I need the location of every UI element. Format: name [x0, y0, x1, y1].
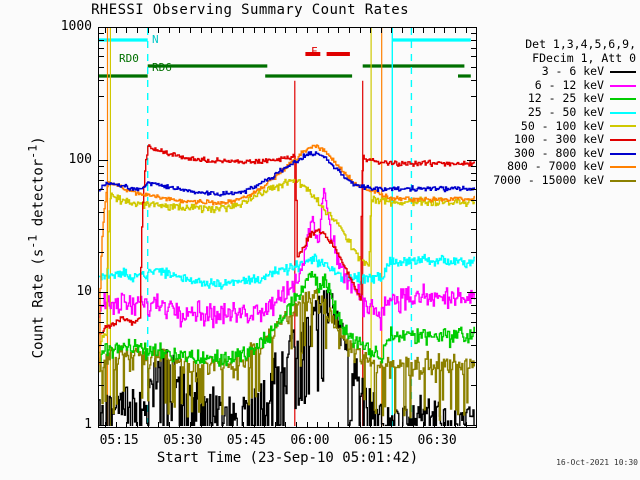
x-tickmark	[402, 28, 403, 33]
y-tickmark	[99, 362, 104, 363]
y-tick-label: 10	[46, 284, 92, 299]
y-tickmark	[471, 252, 476, 253]
legend-entry[interactable]: 6 - 12 keV	[484, 79, 636, 93]
y-tickmark	[471, 189, 476, 190]
x-tickmark	[328, 422, 329, 427]
legend-color-swatch	[610, 85, 636, 87]
y-tickmark	[471, 212, 476, 213]
x-tickmark	[370, 422, 371, 427]
x-tickmark	[190, 28, 191, 33]
x-tickmark	[105, 422, 106, 427]
y-tickmark	[99, 212, 104, 213]
y-tickmark	[99, 166, 104, 167]
x-tickmark	[137, 28, 138, 33]
y-tickmark	[99, 96, 104, 97]
y-axis-title-end: )	[30, 136, 46, 144]
plot-canvas	[99, 28, 476, 427]
x-tickmark	[296, 422, 297, 427]
x-tickmark	[413, 28, 414, 33]
x-tickmark	[148, 422, 149, 427]
legend-entry-label: 3 - 6 keV	[542, 65, 604, 79]
y-tickmark	[99, 425, 108, 426]
x-tickmark	[413, 422, 414, 427]
x-tickmark	[444, 422, 445, 427]
y-tickmark	[471, 305, 476, 306]
y-axis-title-mid: detector	[30, 159, 46, 235]
x-tickmark	[158, 422, 159, 427]
x-tickmark	[349, 422, 350, 427]
legend-entry[interactable]: 800 - 7000 keV	[484, 160, 636, 174]
y-tickmark	[471, 56, 476, 57]
y-tickmark	[471, 200, 476, 201]
legend-entry-label: 50 - 100 keV	[521, 120, 604, 134]
annotation-flare-label: F	[311, 45, 318, 58]
x-tickmark	[179, 28, 180, 33]
y-axis-title-wrap: Count Rate (s-1 detector-1)	[18, 52, 48, 402]
x-tickmark	[338, 422, 339, 427]
render-timestamp: 16-Oct-2021 10:30	[480, 458, 638, 467]
y-tickmark	[471, 332, 476, 333]
x-tickmark	[148, 28, 149, 33]
y-tickmark	[471, 48, 476, 49]
x-tickmark	[232, 422, 233, 427]
y-tickmark	[471, 180, 476, 181]
y-tickmark	[471, 362, 476, 363]
x-tickmark	[423, 422, 424, 427]
legend-entry-label: 300 - 800 keV	[514, 147, 604, 161]
y-tickmark	[99, 40, 104, 41]
y-tickmark	[471, 345, 476, 346]
y-tickmark	[471, 80, 476, 81]
x-tick-label: 05:30	[153, 433, 213, 448]
x-tickmark	[158, 28, 159, 33]
annotation-rd6-label: RD6	[152, 61, 172, 74]
y-tickmark	[99, 173, 104, 174]
x-tickmark	[169, 28, 170, 33]
y-tick-label: 100	[46, 152, 92, 167]
x-tickmark	[264, 422, 265, 427]
legend-entry[interactable]: 12 - 25 keV	[484, 92, 636, 106]
x-tickmark	[434, 422, 435, 427]
legend-entry[interactable]: 300 - 800 keV	[484, 147, 636, 161]
legend-entry[interactable]: 100 - 300 keV	[484, 133, 636, 147]
y-tickmark	[471, 173, 476, 174]
y-tickmark	[471, 385, 476, 386]
plot-svg	[99, 28, 475, 426]
y-tickmark	[99, 120, 104, 121]
legend-entry[interactable]: 7000 - 15000 keV	[484, 174, 636, 188]
y-tickmark	[467, 292, 476, 293]
y-tick-label: 1	[46, 417, 92, 432]
x-tickmark	[307, 28, 308, 33]
page-title: RHESSI Observing Summary Count Rates	[0, 2, 500, 18]
legend-entry-label: 25 - 50 keV	[528, 106, 604, 120]
legend-color-swatch	[610, 153, 636, 155]
x-tickmark	[370, 28, 371, 33]
y-tickmark	[467, 160, 476, 161]
y-tickmark	[471, 67, 476, 68]
legend-entry[interactable]: 25 - 50 keV	[484, 106, 636, 120]
plot-area[interactable]	[98, 27, 477, 428]
legend-entry-label: 7000 - 15000 keV	[493, 174, 604, 188]
y-tickmark	[99, 80, 104, 81]
y-tickmark	[99, 229, 104, 230]
y-tickmark	[99, 200, 104, 201]
x-tickmark	[360, 28, 361, 33]
x-tickmark	[434, 28, 435, 33]
x-tickmark	[423, 28, 424, 33]
y-axis-exponent-2: -1	[26, 145, 40, 159]
y-tickmark	[471, 313, 476, 314]
x-tickmark	[402, 422, 403, 427]
y-tickmark	[471, 40, 476, 41]
legend-entry[interactable]: 50 - 100 keV	[484, 120, 636, 134]
x-tickmark	[328, 28, 329, 33]
y-tickmark	[99, 189, 104, 190]
legend-entry-label: 6 - 12 keV	[535, 79, 604, 93]
x-tickmark	[126, 28, 127, 33]
x-tickmark	[360, 422, 361, 427]
legend-settings: FDecim 1, Att 0	[484, 52, 636, 66]
annotation-night-label: N	[152, 33, 159, 46]
x-tickmark	[317, 422, 318, 427]
x-tickmark	[317, 28, 318, 33]
legend-color-swatch	[610, 180, 636, 182]
y-tickmark	[99, 292, 108, 293]
y-tickmark	[99, 298, 104, 299]
x-tickmark	[285, 422, 286, 427]
x-tickmark	[179, 422, 180, 427]
x-tickmark	[116, 422, 117, 427]
x-tickmark	[201, 28, 202, 33]
x-tick-label: 06:30	[407, 433, 467, 448]
y-tickmark	[99, 322, 104, 323]
x-tickmark	[391, 422, 392, 427]
x-tickmark	[381, 422, 382, 427]
x-tickmark	[222, 28, 223, 33]
x-tickmark	[116, 28, 117, 33]
x-tickmark	[381, 28, 382, 33]
x-tick-label: 05:15	[89, 433, 149, 448]
x-tickmark	[338, 28, 339, 33]
y-tickmark	[99, 345, 104, 346]
y-tickmark	[471, 322, 476, 323]
x-tickmark	[211, 422, 212, 427]
y-tickmark	[99, 67, 104, 68]
annotation-rd0-label: RD0	[119, 52, 139, 65]
legend-entries: 3 - 6 keV6 - 12 keV12 - 25 keV25 - 50 ke…	[484, 65, 636, 187]
x-tickmark	[349, 28, 350, 33]
x-tickmark	[264, 28, 265, 33]
x-tickmark	[201, 422, 202, 427]
y-tick-label: 1000	[46, 19, 92, 34]
x-tickmark	[466, 422, 467, 427]
legend-color-swatch	[610, 112, 636, 114]
y-axis-title-text: Count Rate (s	[30, 249, 46, 359]
y-tickmark	[99, 33, 104, 34]
x-tick-label: 05:45	[216, 433, 276, 448]
x-tickmark	[391, 28, 392, 33]
legend-entry-label: 100 - 300 keV	[514, 133, 604, 147]
x-tickmark	[307, 422, 308, 427]
y-tickmark	[99, 332, 104, 333]
x-tickmark	[296, 28, 297, 33]
x-axis-title: Start Time (23-Sep-10 05:01:42)	[98, 450, 477, 466]
y-tickmark	[99, 305, 104, 306]
rhessi-plot-window: RHESSI Observing Summary Count Rates Cou…	[0, 0, 640, 480]
x-tickmark	[137, 422, 138, 427]
y-tickmark	[471, 166, 476, 167]
legend-entry-label: 12 - 25 keV	[528, 92, 604, 106]
y-tickmark	[99, 180, 104, 181]
y-axis-title: Count Rate (s-1 detector-1)	[26, 77, 47, 417]
x-tickmark	[105, 28, 106, 33]
x-tickmark	[243, 422, 244, 427]
x-tickmark	[211, 28, 212, 33]
y-tickmark	[99, 252, 104, 253]
legend-color-swatch	[610, 98, 636, 100]
y-tickmark	[471, 96, 476, 97]
x-tickmark	[254, 28, 255, 33]
legend-color-swatch	[610, 125, 636, 127]
x-tickmark	[455, 422, 456, 427]
y-tickmark	[99, 48, 104, 49]
legend-color-swatch	[610, 71, 636, 73]
x-tickmark	[169, 422, 170, 427]
y-tickmark	[99, 313, 104, 314]
x-tickmark	[126, 422, 127, 427]
legend: Det 1,3,4,5,6,9, FDecim 1, Att 0 3 - 6 k…	[484, 38, 636, 188]
y-tickmark	[99, 160, 108, 161]
y-axis-exponent-1: -1	[26, 235, 40, 249]
x-tickmark	[243, 28, 244, 33]
legend-color-swatch	[610, 139, 636, 141]
y-tickmark	[99, 56, 104, 57]
x-tickmark	[455, 28, 456, 33]
x-tickmark	[254, 422, 255, 427]
x-tickmark	[275, 28, 276, 33]
legend-color-swatch	[610, 166, 636, 168]
x-tickmark	[275, 422, 276, 427]
y-tickmark	[467, 27, 476, 28]
x-tickmark	[222, 422, 223, 427]
legend-entry[interactable]: 3 - 6 keV	[484, 65, 636, 79]
y-tickmark	[99, 385, 104, 386]
y-tickmark	[99, 27, 108, 28]
y-tickmark	[471, 229, 476, 230]
legend-entry-label: 800 - 7000 keV	[507, 160, 604, 174]
x-tickmark	[190, 422, 191, 427]
x-tickmark	[232, 28, 233, 33]
y-tickmark	[471, 298, 476, 299]
x-tickmark	[285, 28, 286, 33]
legend-detectors: Det 1,3,4,5,6,9,	[484, 38, 636, 52]
y-tickmark	[471, 120, 476, 121]
x-tickmark	[466, 28, 467, 33]
x-tick-label: 06:15	[344, 433, 404, 448]
x-tick-label: 06:00	[280, 433, 340, 448]
y-tickmark	[471, 33, 476, 34]
x-tickmark	[444, 28, 445, 33]
y-tickmark	[467, 425, 476, 426]
